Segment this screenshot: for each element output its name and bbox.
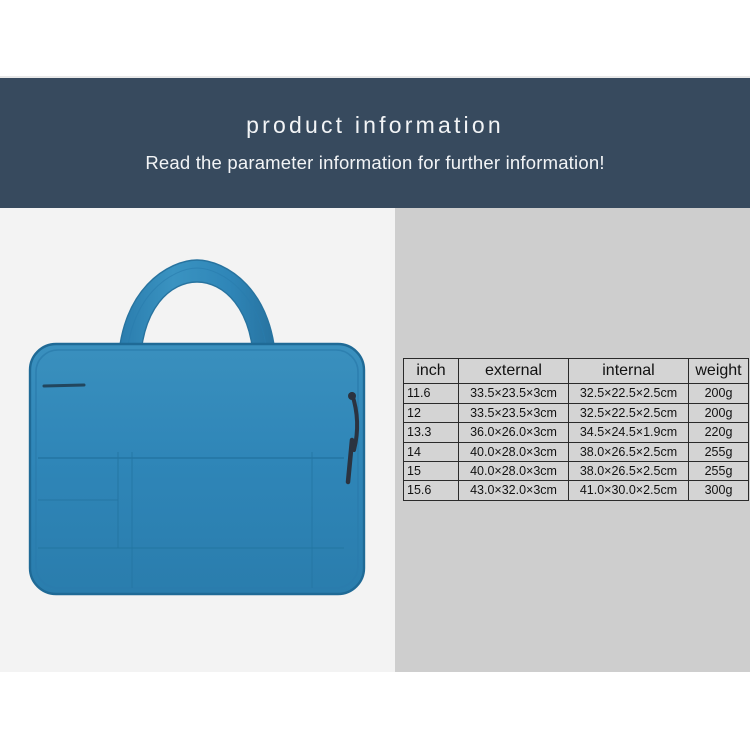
page-subtitle: Read the parameter information for furth… (145, 154, 604, 173)
cell-weight: 200g (689, 403, 749, 422)
table-header-row: inch external internal weight (404, 359, 749, 384)
bag-body (30, 344, 364, 594)
product-image-panel (0, 208, 395, 672)
spec-table-wrapper: inch external internal weight 11.6 33.5×… (403, 358, 748, 501)
page-banner: product information Read the parameter i… (0, 76, 750, 208)
product-information-page: product information Read the parameter i… (0, 0, 750, 750)
column-header-weight: weight (689, 359, 749, 384)
content-area: inch external internal weight 11.6 33.5×… (0, 208, 750, 672)
cell-weight: 220g (689, 423, 749, 442)
laptop-bag-image (22, 244, 372, 634)
cell-external: 36.0×26.0×3cm (459, 423, 569, 442)
zipper-slider (348, 392, 356, 400)
cell-inch: 15 (404, 461, 459, 480)
cell-internal: 41.0×30.0×2.5cm (569, 481, 689, 500)
spec-panel: inch external internal weight 11.6 33.5×… (395, 208, 750, 672)
cell-inch: 14 (404, 442, 459, 461)
cell-external: 43.0×32.0×3cm (459, 481, 569, 500)
cell-external: 40.0×28.0×3cm (459, 442, 569, 461)
column-header-external: external (459, 359, 569, 384)
cell-internal: 34.5×24.5×1.9cm (569, 423, 689, 442)
table-row: 12 33.5×23.5×3cm 32.5×22.5×2.5cm 200g (404, 403, 749, 422)
column-header-internal: internal (569, 359, 689, 384)
cell-weight: 300g (689, 481, 749, 500)
bag-body-group (30, 344, 364, 594)
cell-internal: 38.0×26.5×2.5cm (569, 442, 689, 461)
cell-external: 33.5×23.5×3cm (459, 403, 569, 422)
column-header-inch: inch (404, 359, 459, 384)
cell-weight: 255g (689, 442, 749, 461)
spec-table: inch external internal weight 11.6 33.5×… (403, 358, 749, 501)
cell-inch: 12 (404, 403, 459, 422)
cell-weight: 255g (689, 461, 749, 480)
cell-inch: 15.6 (404, 481, 459, 500)
table-row: 15 40.0×28.0×3cm 38.0×26.5×2.5cm 255g (404, 461, 749, 480)
cell-weight: 200g (689, 384, 749, 403)
cell-internal: 38.0×26.5×2.5cm (569, 461, 689, 480)
table-row: 14 40.0×28.0×3cm 38.0×26.5×2.5cm 255g (404, 442, 749, 461)
cell-inch: 13.3 (404, 423, 459, 442)
pocket-zipper-tape (44, 385, 84, 386)
laptop-bag-illustration (22, 244, 372, 634)
table-row: 15.6 43.0×32.0×3cm 41.0×30.0×2.5cm 300g (404, 481, 749, 500)
cell-external: 33.5×23.5×3cm (459, 384, 569, 403)
table-row: 13.3 36.0×26.0×3cm 34.5×24.5×1.9cm 220g (404, 423, 749, 442)
cell-internal: 32.5×22.5×2.5cm (569, 384, 689, 403)
page-title: product information (246, 114, 504, 137)
cell-inch: 11.6 (404, 384, 459, 403)
cell-external: 40.0×28.0×3cm (459, 461, 569, 480)
table-row: 11.6 33.5×23.5×3cm 32.5×22.5×2.5cm 200g (404, 384, 749, 403)
cell-internal: 32.5×22.5×2.5cm (569, 403, 689, 422)
